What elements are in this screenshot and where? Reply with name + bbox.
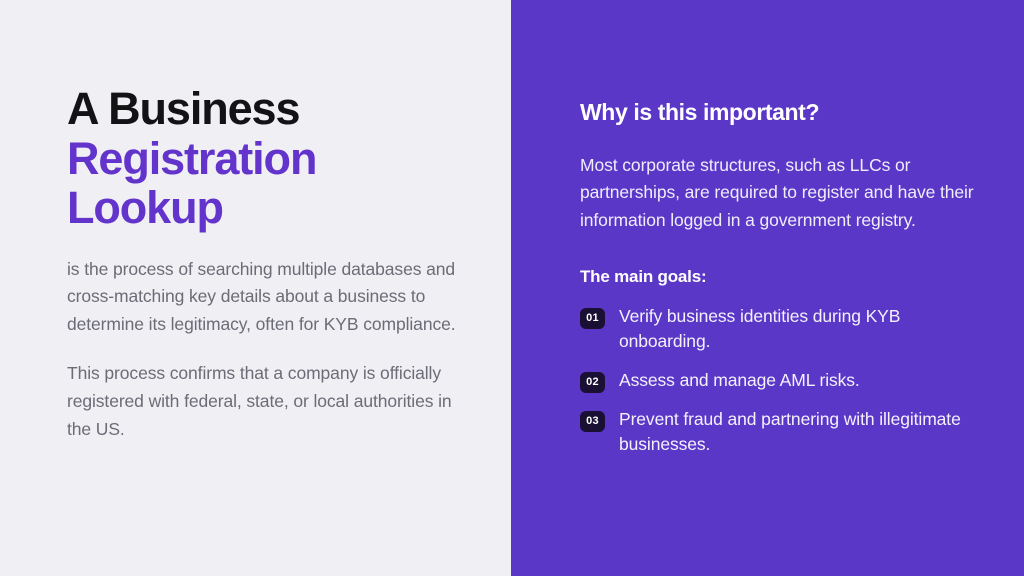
- goal-text: Assess and manage AML risks.: [619, 368, 860, 394]
- title-line-3: Lookup: [67, 183, 471, 233]
- goal-text: Verify business identities during KYB on…: [619, 304, 979, 355]
- goals-heading: The main goals:: [580, 267, 994, 287]
- goal-number-badge: 01: [580, 308, 605, 329]
- goal-text: Prevent fraud and partnering with illegi…: [619, 407, 979, 458]
- list-item: 03 Prevent fraud and partnering with ill…: [580, 407, 994, 458]
- page-title: A Business Registration Lookup: [67, 84, 471, 233]
- list-item: 02 Assess and manage AML risks.: [580, 368, 994, 394]
- left-paragraph-1: is the process of searching multiple dat…: [67, 256, 471, 339]
- left-panel: A Business Registration Lookup is the pr…: [0, 0, 511, 576]
- right-panel-title: Why is this important?: [580, 99, 994, 126]
- left-paragraph-2: This process confirms that a company is …: [67, 360, 471, 443]
- list-item: 01 Verify business identities during KYB…: [580, 304, 994, 355]
- right-panel: Why is this important? Most corporate st…: [511, 0, 1024, 576]
- goal-number-badge: 02: [580, 372, 605, 393]
- goals-list: 01 Verify business identities during KYB…: [580, 304, 994, 458]
- title-line-1: A Business: [67, 84, 471, 134]
- right-panel-paragraph: Most corporate structures, such as LLCs …: [580, 152, 980, 234]
- goal-number-badge: 03: [580, 411, 605, 432]
- title-line-2: Registration: [67, 134, 471, 184]
- slide-root: A Business Registration Lookup is the pr…: [0, 0, 1024, 576]
